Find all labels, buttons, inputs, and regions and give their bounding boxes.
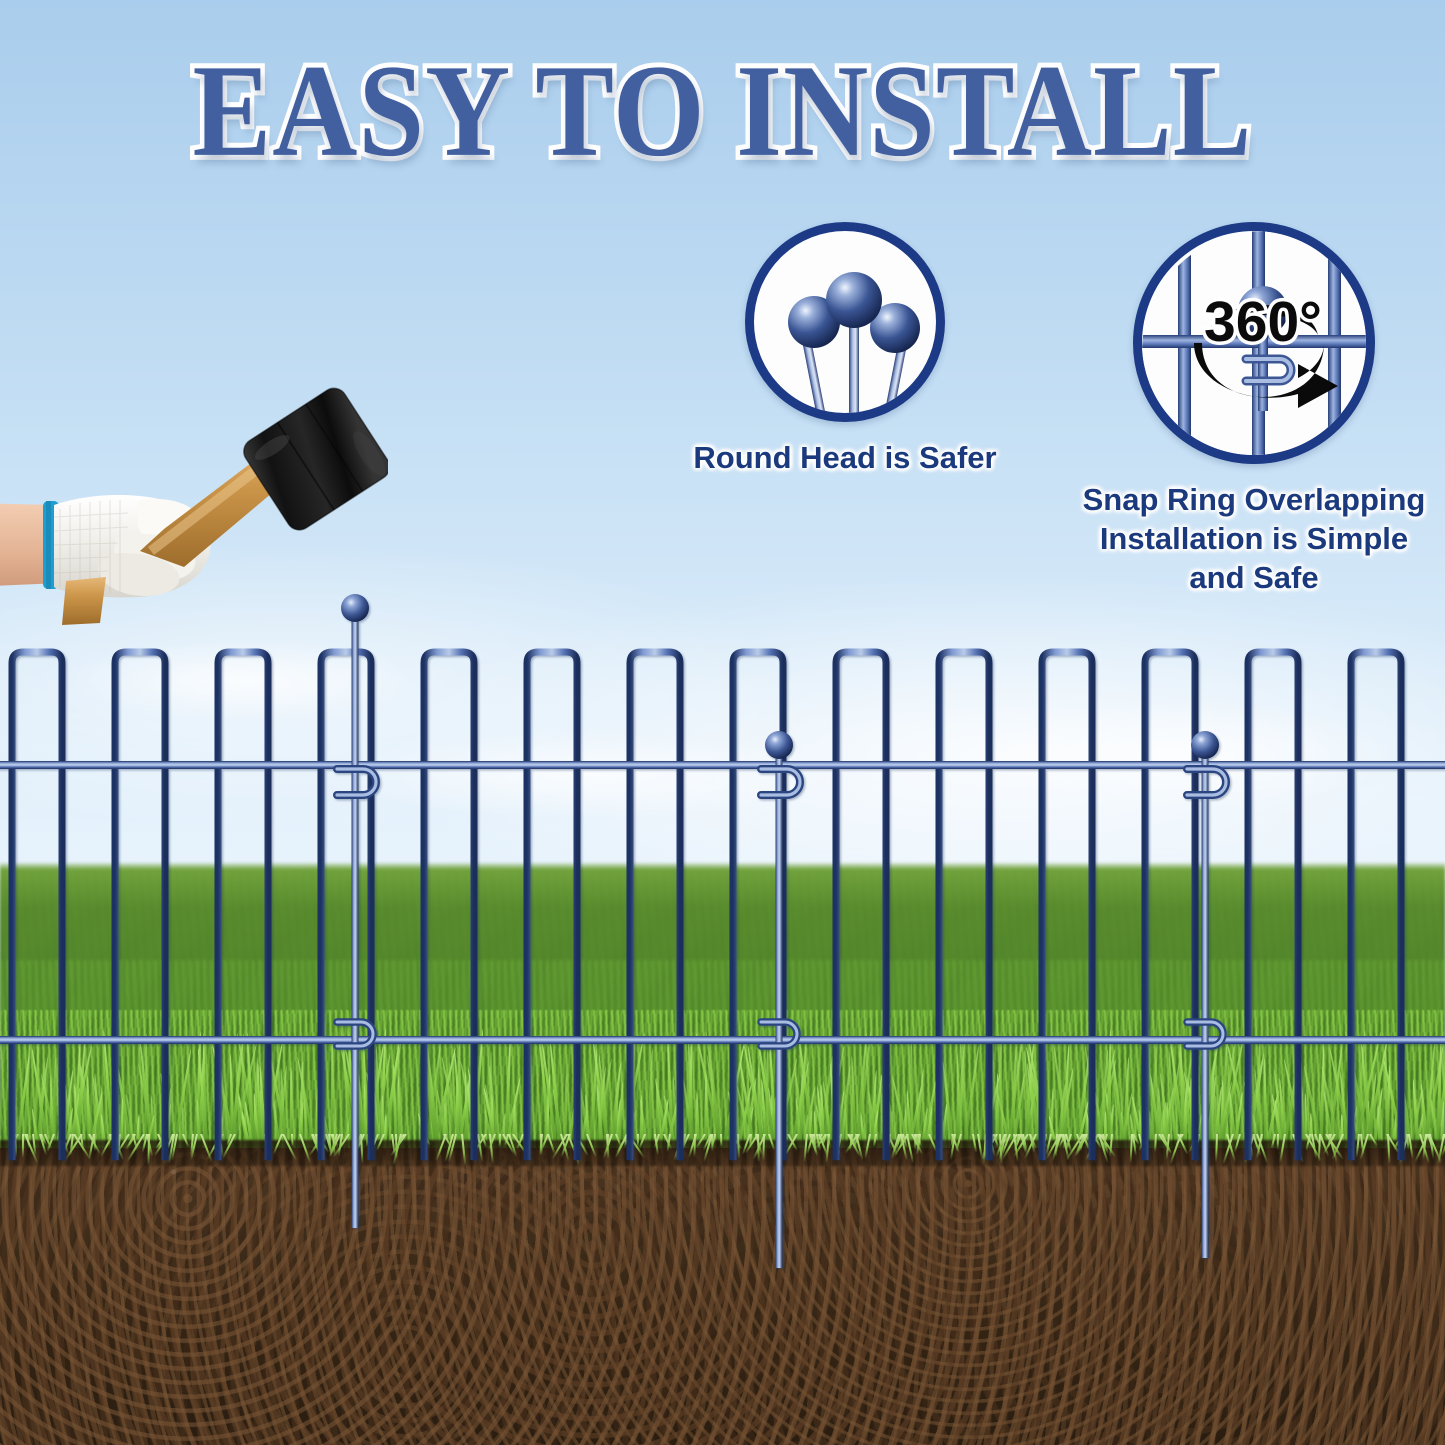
- 360-label: 360°: [1204, 290, 1322, 354]
- round-head-badge: [745, 222, 945, 422]
- fringe-blade: [638, 1134, 646, 1149]
- stake-center: [826, 272, 882, 422]
- fringe-blade: [182, 1134, 189, 1147]
- fringe-blade: [972, 1134, 977, 1153]
- soil-grass-fringe: [0, 1134, 1445, 1168]
- fringe-blade: [873, 1134, 877, 1147]
- caption-line-3: and Safe: [1068, 558, 1440, 597]
- fringe-blade: [471, 1134, 474, 1149]
- fringe-blade: [423, 1134, 431, 1146]
- fringe-blade: [1154, 1134, 1157, 1152]
- fringe-blade: [615, 1134, 622, 1146]
- fringe-blade: [720, 1134, 722, 1147]
- fringe-blade: [499, 1134, 501, 1147]
- snap-ring-caption: Snap Ring Overlapping Installation is Si…: [1068, 480, 1440, 597]
- fringe-blade: [768, 1134, 775, 1150]
- fringe-blade: [757, 1134, 760, 1162]
- fringe-blade: [80, 1134, 84, 1151]
- caption-line-1: Snap Ring Overlapping: [1068, 480, 1440, 519]
- fringe-blade: [1277, 1134, 1279, 1150]
- fringe-blade: [461, 1134, 466, 1166]
- fringe-blade: [1169, 1134, 1182, 1164]
- fringe-blade: [1158, 1134, 1172, 1153]
- page-title: EASY TO INSTALL: [0, 44, 1445, 179]
- stake-right: [870, 303, 920, 422]
- fringe-blade: [1292, 1134, 1304, 1163]
- three-ball-head-stakes-icon: [754, 231, 945, 422]
- fringe-blade: [264, 1134, 268, 1160]
- snap-ring-badge: 360°: [1133, 222, 1375, 464]
- fringe-blade: [269, 1134, 271, 1161]
- fringe-blade: [24, 1134, 38, 1164]
- fringe-blade: [637, 1134, 639, 1147]
- feature-snap-ring: 360° Snap Ring Overlapping Installation …: [1068, 222, 1440, 597]
- fringe-blade: [22, 1134, 24, 1158]
- mallet-handle-lower: [62, 577, 106, 625]
- fringe-blade: [273, 1134, 283, 1155]
- product-feature-image: EASY TO INSTALL: [0, 0, 1445, 1445]
- fringe-blade: [1215, 1134, 1218, 1162]
- fringe-blade: [1234, 1134, 1241, 1153]
- fringe-blade: [827, 1134, 831, 1147]
- soil-cross-section: [0, 1148, 1445, 1445]
- round-head-caption: Round Head is Safer: [660, 438, 1030, 477]
- fringe-blade: [762, 1134, 765, 1161]
- mallet-head: [239, 383, 388, 534]
- hand-with-mallet: [0, 355, 388, 645]
- fringe-blade: [1355, 1134, 1359, 1158]
- feature-round-head: Round Head is Safer: [660, 222, 1030, 477]
- fringe-blade: [1279, 1134, 1286, 1163]
- fringe-blade: [864, 1134, 871, 1159]
- fringe-blade: [291, 1134, 294, 1147]
- fringe-blade: [977, 1134, 983, 1159]
- fringe-blade: [928, 1134, 938, 1153]
- fringe-blade: [299, 1134, 311, 1164]
- 360-degree-rotation-icon: 360°: [1142, 231, 1375, 464]
- caption-line-2: Installation is Simple: [1068, 519, 1440, 558]
- fringe-blade: [1369, 1134, 1378, 1147]
- fringe-blade: [282, 1134, 297, 1161]
- fringe-blade: [1271, 1134, 1276, 1149]
